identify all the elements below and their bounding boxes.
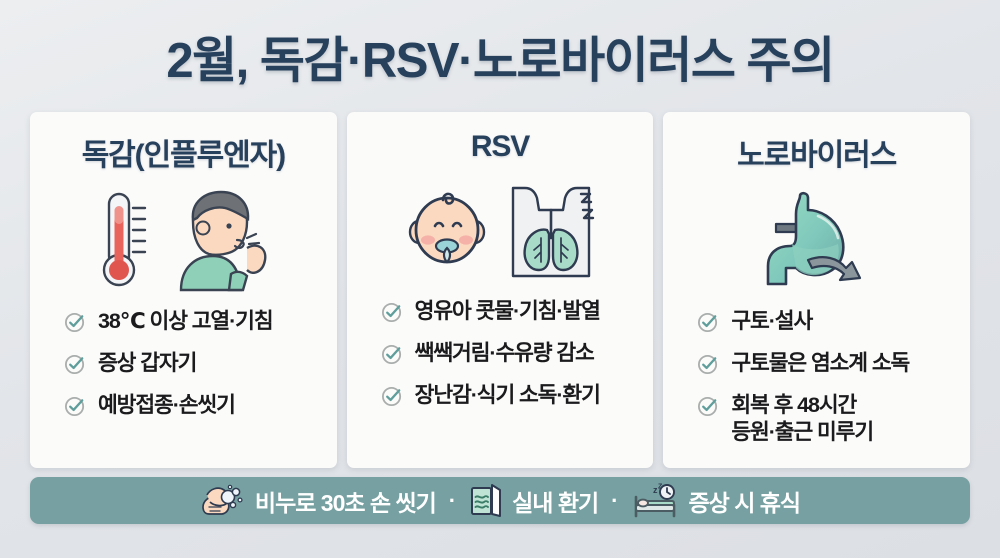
- check-circle-icon: [697, 353, 720, 376]
- coughing-person-icon: [163, 188, 271, 292]
- infographic-poster: 2월, 독감·RSV·노로바이러스 주의 독감(인플루엔자): [0, 0, 1000, 558]
- list-item-label: 예방접종·손씻기: [98, 392, 235, 418]
- footer-item-label: 증상 시 휴식: [688, 484, 800, 518]
- list-item: 38℃ 이상 고열·기침: [64, 308, 323, 334]
- check-circle-icon: [64, 395, 87, 418]
- list-item-label: 증상 갑자기: [98, 350, 196, 376]
- list-item: 구토·설사: [697, 308, 956, 334]
- card-illustration: [361, 176, 640, 284]
- footer-separator: ·: [609, 488, 620, 514]
- card-rsv: RSV: [347, 112, 654, 468]
- check-circle-icon: [697, 395, 720, 418]
- bullet-list: 구토·설사 구토물은 염소계 소독 회복 후 48시간 등원·출근 미루기: [677, 308, 956, 445]
- check-circle-icon: [64, 311, 87, 334]
- lungs-icon: [501, 180, 601, 280]
- baby-face-icon: [399, 182, 495, 278]
- check-circle-icon: [697, 311, 720, 334]
- bullet-list: 영유아 콧물·기침·발열 쌕쌕거림·수유량 감소 장난감·식기 소독·환기: [361, 298, 640, 409]
- svg-text:Z: Z: [658, 483, 663, 490]
- list-item: 장난감·식기 소독·환기: [381, 382, 640, 408]
- title-section: 2월, 독감·RSV·노로바이러스 주의: [30, 0, 970, 112]
- list-item-label: 쌕쌕거림·수유량 감소: [415, 340, 594, 366]
- card-title: 독감(인플루엔자): [82, 130, 285, 174]
- list-item-label: 38℃ 이상 고열·기침: [98, 308, 273, 334]
- list-item: 영유아 콧물·기침·발열: [381, 298, 640, 324]
- handwashing-icon: [200, 483, 246, 519]
- check-circle-icon: [381, 385, 404, 408]
- list-item-label: 장난감·식기 소독·환기: [415, 382, 600, 408]
- bed-rest-icon: z Z: [631, 483, 679, 519]
- list-item-label: 영유아 콧물·기침·발열: [415, 298, 600, 324]
- stomach-icon: [742, 188, 892, 292]
- card-illustration: [677, 186, 956, 294]
- card-illustration: [44, 186, 323, 294]
- footer-item-label: 실내 환기: [512, 484, 598, 518]
- prevention-footer-bar: 비누로 30초 손 씻기 · 실내 환기 · z: [30, 477, 970, 524]
- page-title: 2월, 독감·RSV·노로바이러스 주의: [166, 21, 833, 92]
- list-item: 쌕쌕거림·수유량 감소: [381, 340, 640, 366]
- list-item-label: 구토물은 염소계 소독: [731, 350, 909, 376]
- list-item: 구토물은 염소계 소독: [697, 350, 956, 376]
- list-item-label: 회복 후 48시간 등원·출근 미루기: [731, 392, 873, 444]
- open-window-icon: [469, 484, 503, 518]
- check-circle-icon: [381, 301, 404, 324]
- list-item-label: 구토·설사: [731, 308, 812, 334]
- cards-row: 독감(인플루엔자): [30, 112, 970, 468]
- footer-item-label: 비누로 30초 손 씻기: [255, 484, 436, 518]
- thermometer-icon: [95, 188, 157, 292]
- list-item: 회복 후 48시간 등원·출근 미루기: [697, 392, 956, 444]
- list-item: 예방접종·손씻기: [64, 392, 323, 418]
- footer-item-ventilation: 실내 환기: [469, 484, 598, 518]
- check-circle-icon: [64, 353, 87, 376]
- list-item: 증상 갑자기: [64, 350, 323, 376]
- card-title: RSV: [471, 130, 529, 164]
- card-norovirus: 노로바이러스: [663, 112, 970, 468]
- card-title: 노로바이러스: [737, 130, 896, 174]
- check-circle-icon: [381, 343, 404, 366]
- card-influenza: 독감(인플루엔자): [30, 112, 337, 468]
- footer-separator: ·: [447, 488, 458, 514]
- footer-item-rest: z Z 증상 시 휴식: [631, 483, 800, 519]
- footer-item-handwashing: 비누로 30초 손 씻기: [200, 483, 436, 519]
- bullet-list: 38℃ 이상 고열·기침 증상 갑자기 예방접종·손씻기: [44, 308, 323, 419]
